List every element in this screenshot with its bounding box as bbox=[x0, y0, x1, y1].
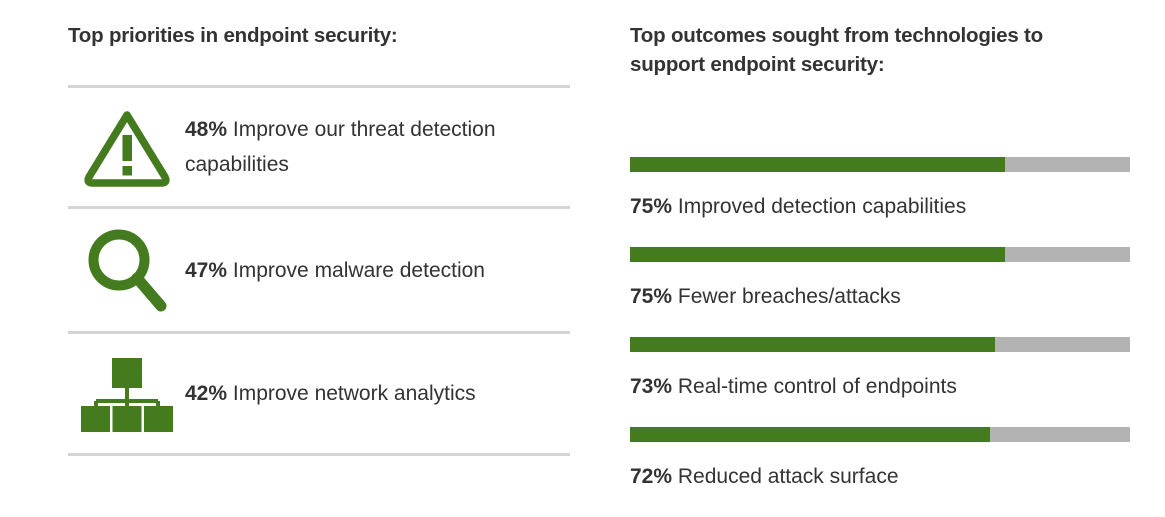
priority-percent: 48% bbox=[185, 118, 227, 141]
top-priorities-heading: Top priorities in endpoint security: bbox=[68, 21, 588, 50]
outcome-bar-list: 75% Improved detection capabilities 75% … bbox=[630, 157, 1130, 517]
outcome-percent: 75% bbox=[630, 285, 672, 308]
list-item: 75% Fewer breaches/attacks bbox=[630, 247, 1130, 337]
list-item: 42% Improve network analytics bbox=[68, 334, 570, 456]
outcome-label: Improved detection capabilities bbox=[678, 195, 966, 218]
priority-list: 48% Improve our threat detection capabil… bbox=[68, 85, 570, 456]
top-priorities-panel: Top priorities in endpoint security: 48%… bbox=[68, 0, 570, 501]
bar-track bbox=[630, 427, 1130, 442]
bar-track bbox=[630, 337, 1130, 352]
endpoint-security-infographic: Top priorities in endpoint security: 48%… bbox=[0, 0, 1165, 501]
bar-track bbox=[630, 247, 1130, 262]
outcome-percent: 72% bbox=[630, 465, 672, 488]
outcome-item-text: 72% Reduced attack surface bbox=[630, 463, 1140, 491]
priority-item-text: 48% Improve our threat detection capabil… bbox=[185, 112, 570, 182]
bar-fill bbox=[630, 157, 1005, 172]
outcome-item-text: 73% Real-time control of endpoints bbox=[630, 373, 1140, 401]
bar-fill bbox=[630, 337, 995, 352]
bar-fill bbox=[630, 247, 1005, 262]
priority-label: Improve network analytics bbox=[233, 382, 476, 405]
list-item: 72% Reduced attack surface bbox=[630, 427, 1130, 517]
priority-percent: 42% bbox=[185, 382, 227, 405]
list-item: 48% Improve our threat detection capabil… bbox=[68, 88, 570, 209]
bar-fill bbox=[630, 427, 990, 442]
list-item: 75% Improved detection capabilities bbox=[630, 157, 1130, 247]
outcome-item-text: 75% Fewer breaches/attacks bbox=[630, 283, 1140, 311]
list-item: 73% Real-time control of endpoints bbox=[630, 337, 1130, 427]
outcome-percent: 73% bbox=[630, 375, 672, 398]
network-analytics-icon bbox=[68, 354, 185, 434]
outcome-label: Reduced attack surface bbox=[678, 465, 899, 488]
warning-triangle-icon bbox=[68, 107, 185, 187]
priority-item-text: 47% Improve malware detection bbox=[185, 253, 570, 288]
outcome-label: Fewer breaches/attacks bbox=[678, 285, 901, 308]
top-outcomes-heading: Top outcomes sought from technologies to… bbox=[630, 21, 1100, 79]
bar-track bbox=[630, 157, 1130, 172]
list-item: 47% Improve malware detection bbox=[68, 209, 570, 334]
outcome-percent: 75% bbox=[630, 195, 672, 218]
priority-item-text: 42% Improve network analytics bbox=[185, 376, 570, 411]
priority-percent: 47% bbox=[185, 259, 227, 282]
priority-label: Improve malware detection bbox=[233, 259, 485, 282]
magnifier-icon bbox=[68, 226, 185, 314]
top-outcomes-panel: Top outcomes sought from technologies to… bbox=[630, 0, 1130, 501]
outcome-label: Real-time control of endpoints bbox=[678, 375, 957, 398]
priority-label: Improve our threat detection capabilitie… bbox=[185, 118, 496, 176]
outcome-item-text: 75% Improved detection capabilities bbox=[630, 193, 1140, 221]
